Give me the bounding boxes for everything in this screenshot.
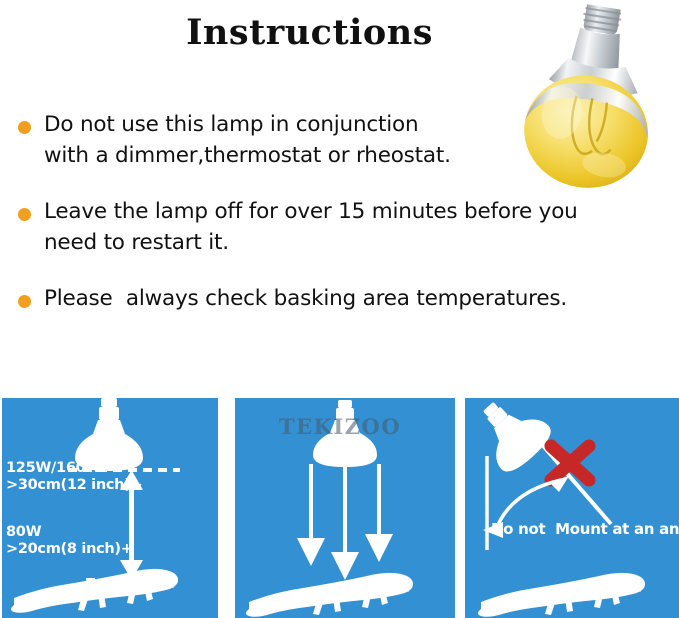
bullet-dot-icon	[18, 295, 31, 308]
list-item: Please always check basking area tempera…	[12, 284, 672, 315]
reflector-bulb-icon	[313, 400, 377, 467]
down-arrow-icon	[365, 464, 393, 562]
mounting-distance-panel: 125W/160W >30cm(12 inch)+ 80W >20cm(8 in…	[2, 398, 218, 618]
bullet-dot-icon	[18, 208, 31, 221]
bullet-text: Please always check basking area tempera…	[44, 284, 672, 315]
spec-label-high-wattage: 125W/160W >30cm(12 inch)+	[6, 460, 142, 494]
bullet-text: Leave the lamp off for over 15 minutes b…	[44, 197, 672, 258]
lizard-silhouette-icon	[246, 573, 413, 617]
bullet-text: Do not use this lamp in conjunction with…	[44, 110, 524, 171]
tilted-axis-line	[531, 432, 611, 524]
diagram-panels: 125W/160W >30cm(12 inch)+ 80W >20cm(8 in…	[0, 398, 679, 618]
tilted-bulb-icon	[465, 398, 557, 478]
down-arrow-icon	[297, 464, 325, 566]
spec-label-low-wattage: 80W >20cm(8 inch)+	[6, 524, 133, 558]
light-rays-panel: TEKIZOO	[235, 398, 455, 618]
instructions-list: Do not use this lamp in conjunction with…	[12, 110, 672, 341]
list-item: Leave the lamp off for over 15 minutes b…	[12, 197, 672, 258]
do-not-mount-angle-panel: Do not Mount at an angle	[465, 398, 679, 618]
lizard-silhouette-icon	[478, 573, 645, 617]
down-arrow-icon	[331, 464, 359, 580]
lizard-silhouette-icon	[11, 569, 178, 613]
list-item: Do not use this lamp in conjunction with…	[12, 110, 672, 171]
angle-warning-caption: Do not Mount at an angle	[491, 520, 679, 538]
bullet-dot-icon	[18, 121, 31, 134]
